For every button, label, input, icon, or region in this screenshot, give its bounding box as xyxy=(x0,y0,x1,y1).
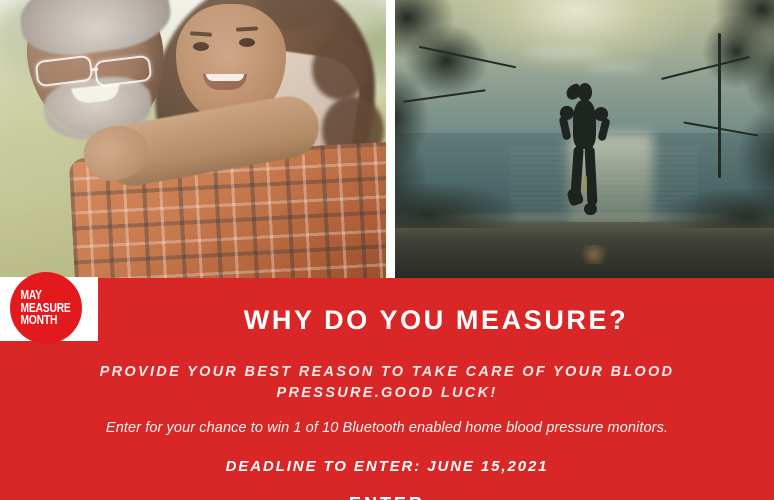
promo-subheadline: PROVIDE YOUR BEST REASON TO TAKE CARE OF… xyxy=(40,362,734,404)
logo-panel: MAY MEASURE MONTH xyxy=(0,277,98,341)
page-title: WHY DO YOU MEASURE? xyxy=(98,305,774,335)
may-measure-month-logo[interactable]: MAY MEASURE MONTH xyxy=(10,272,82,344)
teal-tint-overlay xyxy=(395,0,774,278)
enter-button[interactable]: ENTER xyxy=(337,489,437,500)
photo-band xyxy=(0,0,774,278)
photo-runner-at-sunset xyxy=(395,0,774,278)
photo-grandfather-and-girl xyxy=(0,0,386,278)
promo-deadline: DEADLINE TO ENTER: JUNE 15,2021 xyxy=(40,458,734,475)
promo-body-text: Enter for your chance to win 1 of 10 Blu… xyxy=(30,420,744,436)
warm-light-overlay xyxy=(0,0,386,278)
logo-text: MAY MEASURE MONTH xyxy=(21,289,71,327)
promo-page: MAY MEASURE MONTH WHY DO YOU MEASURE? PR… xyxy=(0,0,774,500)
